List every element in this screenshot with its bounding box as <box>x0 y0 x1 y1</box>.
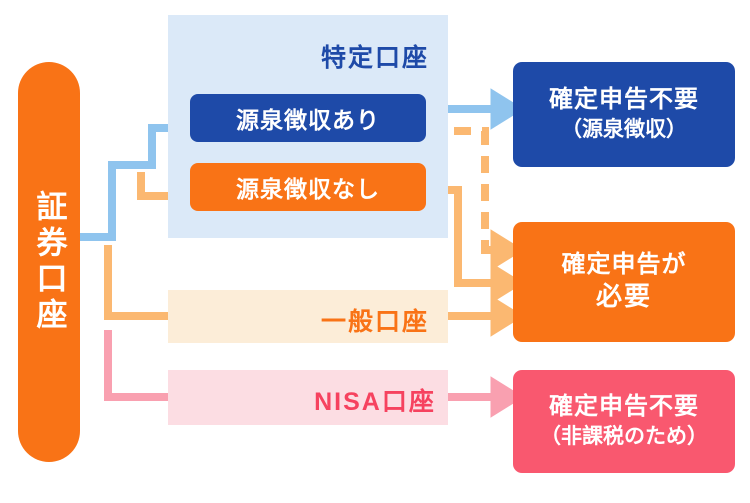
result-filing-required-line1: 確定申告が <box>562 250 687 281</box>
result-box-no-filing-withholding[interactable]: 確定申告不要 （源泉徴収） <box>513 62 735 167</box>
option-box-withholding-no[interactable]: 源泉徴収なし <box>190 163 426 211</box>
option-label-withholding-yes: 源泉徴収あり <box>236 101 380 135</box>
result-filing-required-line2: 必要 <box>596 280 652 314</box>
option-label-withholding-no: 源泉徴収なし <box>236 170 380 204</box>
option-box-withholding-yes[interactable]: 源泉徴収あり <box>190 94 426 142</box>
root-node-securities-account[interactable]: 証券口座 <box>18 62 80 462</box>
result-box-no-filing-nisa[interactable]: 確定申告不要 （非課税のため） <box>513 370 735 473</box>
result-no-filing-nisa-line1: 確定申告不要 <box>549 392 699 423</box>
account-tax-filing-flowchart: 証券口座 特定口座 一般口座 NISA口座 源泉徴収あり 源泉徴収なし 確定申告… <box>0 0 750 503</box>
result-no-filing-nisa-line2: （非課税のため） <box>540 423 708 450</box>
result-no-filing-withholding-line2: （源泉徴収） <box>561 116 687 143</box>
result-box-filing-required[interactable]: 確定申告が 必要 <box>513 222 735 342</box>
root-node-label: 証券口座 <box>34 190 65 334</box>
result-no-filing-withholding-line1: 確定申告不要 <box>549 85 699 116</box>
